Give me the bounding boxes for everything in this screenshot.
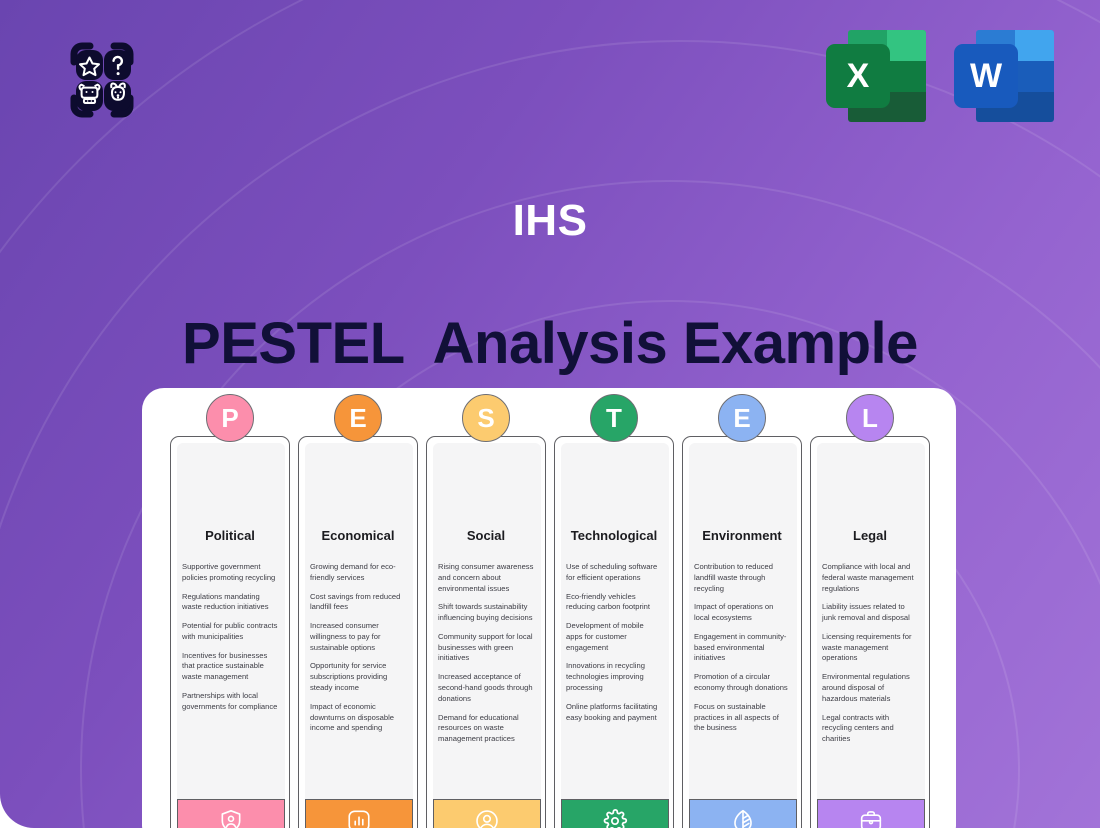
shield-person-icon <box>218 808 244 828</box>
column-letter-badge-environment: E <box>718 394 766 442</box>
column-title: Political <box>170 528 290 543</box>
column-letter-badge-legal: L <box>846 394 894 442</box>
column-icon-footer-environment[interactable] <box>689 799 797 828</box>
column-points: Contribution to reduced landfill waste t… <box>694 562 790 742</box>
column-point: Partnerships with local governments for … <box>182 691 278 713</box>
office-icon-group: X W <box>826 30 1054 122</box>
pestel-column-political: PPoliticalSupportive government policies… <box>170 436 290 828</box>
column-point: Regulations mandating waste reduction in… <box>182 592 278 614</box>
column-title: Technological <box>554 528 674 543</box>
leaf-icon <box>730 808 756 828</box>
column-point: Impact of operations on local ecosystems <box>694 602 790 624</box>
column-point: Innovations in recycling technologies im… <box>566 661 662 693</box>
column-title: Legal <box>810 528 930 543</box>
column-icon-footer-economical[interactable] <box>305 799 413 828</box>
column-point: Rising consumer awareness and concern ab… <box>438 562 534 594</box>
column-point: Increased consumer willingness to pay fo… <box>310 621 406 653</box>
column-point: Contribution to reduced landfill waste t… <box>694 562 790 594</box>
column-point: Development of mobile apps for customer … <box>566 621 662 653</box>
word-icon-letter: W <box>954 44 1018 108</box>
page-title: PESTEL Analysis Example <box>0 310 1100 377</box>
excel-icon-letter: X <box>826 44 890 108</box>
column-letter-badge-technological: T <box>590 394 638 442</box>
excel-icon[interactable]: X <box>826 30 926 122</box>
column-point: Growing demand for eco-friendly services <box>310 562 406 584</box>
column-icon-footer-political[interactable] <box>177 799 285 828</box>
pestel-card: PPoliticalSupportive government policies… <box>142 388 956 828</box>
pestel-column-environment: EEnvironmentContribution to reduced land… <box>682 436 802 828</box>
column-title: Environment <box>682 528 802 543</box>
brand-subtitle: IHS <box>0 196 1100 246</box>
column-points: Use of scheduling software for efficient… <box>566 562 662 731</box>
column-letter-badge-social: S <box>462 394 510 442</box>
pestel-column-economical: EEconomicalGrowing demand for eco-friend… <box>298 436 418 828</box>
column-letter-badge-economical: E <box>334 394 382 442</box>
column-point: Liability issues related to junk removal… <box>822 602 918 624</box>
column-points: Supportive government policies promoting… <box>182 562 278 721</box>
column-title: Economical <box>298 528 418 543</box>
column-point: Promotion of a circular economy through … <box>694 672 790 694</box>
column-icon-footer-social[interactable] <box>433 799 541 828</box>
column-point: Legal contracts with recycling centers a… <box>822 713 918 745</box>
column-point: Use of scheduling software for efficient… <box>566 562 662 584</box>
pet-scanner-logo[interactable] <box>54 32 150 128</box>
column-point: Increased acceptance of second-hand good… <box>438 672 534 704</box>
bar-chart-icon <box>346 808 372 828</box>
column-point: Potential for public contracts with muni… <box>182 621 278 643</box>
gear-icon <box>602 808 628 828</box>
column-point: Shift towards sustainability influencing… <box>438 602 534 624</box>
pestel-column-social: SSocialRising consumer awareness and con… <box>426 436 546 828</box>
column-icon-footer-technological[interactable] <box>561 799 669 828</box>
column-points: Growing demand for eco-friendly services… <box>310 562 406 742</box>
column-point: Compliance with local and federal waste … <box>822 562 918 594</box>
pestel-column-technological: TTechnologicalUse of scheduling software… <box>554 436 674 828</box>
column-point: Impact of economic downturns on disposab… <box>310 702 406 734</box>
column-point: Eco-friendly vehicles reducing carbon fo… <box>566 592 662 614</box>
user-circle-icon <box>474 808 500 828</box>
pestel-columns: PPoliticalSupportive government policies… <box>170 436 930 828</box>
column-point: Engagement in community-based environmen… <box>694 632 790 664</box>
column-point: Cost savings from reduced landfill fees <box>310 592 406 614</box>
column-point: Community support for local businesses w… <box>438 632 534 664</box>
column-title: Social <box>426 528 546 543</box>
column-point: Demand for educational resources on wast… <box>438 713 534 745</box>
column-point: Licensing requirements for waste managem… <box>822 632 918 664</box>
column-point: Supportive government policies promoting… <box>182 562 278 584</box>
column-point: Environmental regulations around disposa… <box>822 672 918 704</box>
pestel-column-legal: LLegalCompliance with local and federal … <box>810 436 930 828</box>
column-point: Incentives for businesses that practice … <box>182 651 278 683</box>
column-points: Rising consumer awareness and concern ab… <box>438 562 534 753</box>
column-point: Online platforms facilitating easy booki… <box>566 702 662 724</box>
column-letter-badge-political: P <box>206 394 254 442</box>
column-point: Opportunity for service subscriptions pr… <box>310 661 406 693</box>
column-points: Compliance with local and federal waste … <box>822 562 918 753</box>
word-icon[interactable]: W <box>954 30 1054 122</box>
column-icon-footer-legal[interactable] <box>817 799 925 828</box>
briefcase-icon <box>858 808 884 828</box>
column-point: Focus on sustainable practices in all as… <box>694 702 790 734</box>
